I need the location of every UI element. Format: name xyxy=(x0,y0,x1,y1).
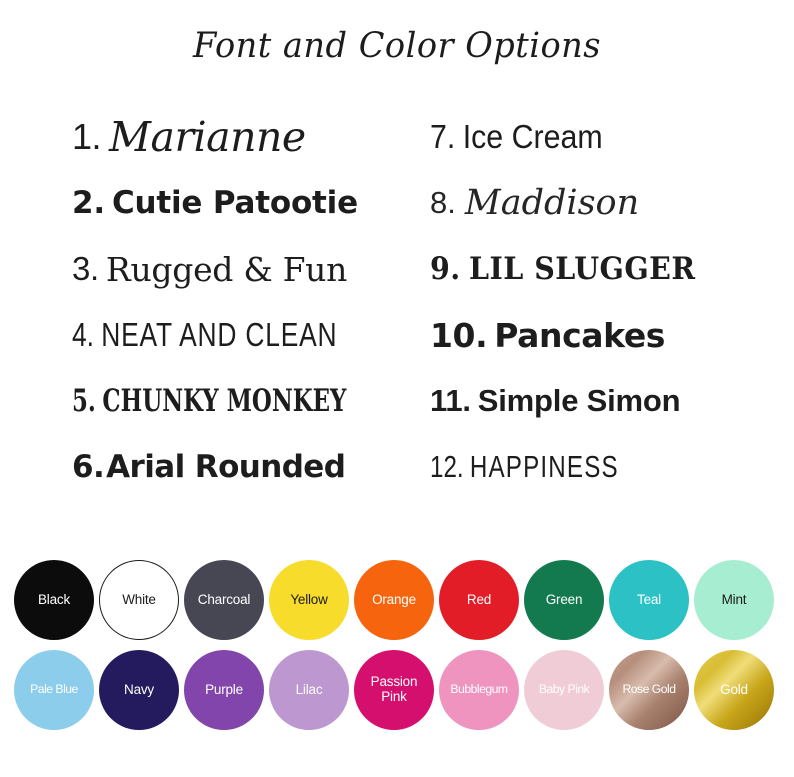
color-swatch-label: Charcoal xyxy=(196,593,252,608)
color-swatch-purple[interactable]: Purple xyxy=(184,650,264,730)
font-option-9[interactable]: 9. LIL SLUGGER xyxy=(430,236,761,302)
color-swatch-label: Passion Pink xyxy=(369,675,420,704)
color-swatch-green[interactable]: Green xyxy=(524,560,604,640)
font-option-12-number: 12. xyxy=(430,449,464,485)
font-option-1-name: Marianne xyxy=(109,113,306,161)
color-swatch-rose-gold[interactable]: Rose Gold xyxy=(609,650,689,730)
font-option-6-number: 6. xyxy=(72,449,104,485)
color-swatch-label: Gold xyxy=(718,683,750,698)
color-swatch-orange[interactable]: Orange xyxy=(354,560,434,640)
font-option-6[interactable]: 6. Arial Rounded xyxy=(72,434,432,500)
font-option-4[interactable]: 4. NEAT AND CLEAN xyxy=(72,302,360,368)
font-option-1[interactable]: 1. Marianne xyxy=(72,104,432,170)
font-options-list: 1. Marianne 2. Cutie Patootie 3. Rugged … xyxy=(0,104,794,524)
color-swatch-label: Red xyxy=(465,593,493,608)
font-option-2-number: 2. xyxy=(72,185,105,221)
font-option-7-name: Ice Cream xyxy=(463,118,603,156)
font-option-5-number: 5. xyxy=(72,383,96,419)
color-swatch-baby-pink[interactable]: Baby Pink xyxy=(524,650,604,730)
font-option-11-name: Simple Simon xyxy=(478,383,681,419)
color-swatch-teal[interactable]: Teal xyxy=(609,560,689,640)
color-swatch-pale-blue[interactable]: Pale Blue xyxy=(14,650,94,730)
font-option-8-name: Maddison xyxy=(465,183,639,223)
font-option-5-name: CHUNKY MONKEY xyxy=(102,383,346,419)
color-swatch-mint[interactable]: Mint xyxy=(694,560,774,640)
color-swatch-charcoal[interactable]: Charcoal xyxy=(184,560,264,640)
font-option-10-name: Pancakes xyxy=(494,316,665,355)
font-option-10-number: 10. xyxy=(430,316,487,355)
font-column-right: 7. Ice Cream 8. Maddison 9. LIL SLUGGER … xyxy=(430,104,790,500)
font-option-11[interactable]: 11. Simple Simon xyxy=(430,368,790,434)
font-option-7[interactable]: 7. Ice Cream xyxy=(430,104,761,170)
color-swatch-label: Rose Gold xyxy=(620,683,677,696)
font-option-3-number: 3. xyxy=(72,250,99,288)
font-option-8-number: 8. xyxy=(430,185,456,221)
font-option-2[interactable]: 2. Cutie Patootie xyxy=(72,170,432,236)
font-option-12[interactable]: 12. HAPPINESS xyxy=(430,434,711,500)
color-swatch-bubblegum[interactable]: Bubblegum xyxy=(439,650,519,730)
color-swatch-white[interactable]: White xyxy=(99,560,179,640)
color-swatch-navy[interactable]: Navy xyxy=(99,650,179,730)
color-swatch-label: Orange xyxy=(370,593,418,608)
color-swatch-label: Lilac xyxy=(294,683,325,698)
color-swatch-lilac[interactable]: Lilac xyxy=(269,650,349,730)
color-swatch-label: White xyxy=(120,593,158,608)
color-swatch-label: Green xyxy=(544,593,585,608)
font-option-1-number: 1. xyxy=(72,116,101,158)
font-column-left: 1. Marianne 2. Cutie Patootie 3. Rugged … xyxy=(72,104,432,500)
font-option-4-name: NEAT AND CLEAN xyxy=(101,316,337,354)
color-swatch-label: Bubblegum xyxy=(448,683,509,696)
font-option-11-number: 11. xyxy=(430,383,471,419)
color-swatch-gold[interactable]: Gold xyxy=(694,650,774,730)
font-option-5[interactable]: 5. CHUNKY MONKEY xyxy=(72,368,367,434)
font-option-3[interactable]: 3. Rugged & Fun xyxy=(72,236,432,302)
color-swatch-yellow[interactable]: Yellow xyxy=(269,560,349,640)
color-swatch-label: Mint xyxy=(720,593,749,608)
font-option-2-name: Cutie Patootie xyxy=(112,185,358,221)
color-swatch-black[interactable]: Black xyxy=(14,560,94,640)
color-swatch-label: Baby Pink xyxy=(537,683,591,696)
color-swatch-label: Black xyxy=(36,593,72,608)
page-title: Font and Color Options xyxy=(16,0,778,72)
font-option-6-name: Arial Rounded xyxy=(106,449,345,485)
font-option-10[interactable]: 10. Pancakes xyxy=(430,302,790,368)
font-option-3-name: Rugged & Fun xyxy=(106,250,347,289)
font-option-12-name: HAPPINESS xyxy=(470,449,619,485)
color-swatch-label: Yellow xyxy=(288,593,329,608)
font-option-8[interactable]: 8. Maddison xyxy=(430,170,790,236)
color-swatch-label: Pale Blue xyxy=(28,683,80,696)
font-option-9-number: 9. xyxy=(430,251,461,287)
color-swatch-red[interactable]: Red xyxy=(439,560,519,640)
color-swatch-label: Navy xyxy=(122,683,156,698)
color-swatch-passion-pink[interactable]: Passion Pink xyxy=(354,650,434,730)
font-option-7-number: 7. xyxy=(430,118,455,156)
color-swatch-label: Teal xyxy=(635,593,663,608)
color-swatch-grid: BlackWhiteCharcoalYellowOrangeRedGreenTe… xyxy=(14,560,780,740)
color-swatch-label: Purple xyxy=(203,683,245,698)
font-option-9-name: LIL SLUGGER xyxy=(469,251,696,287)
font-option-4-number: 4. xyxy=(72,316,94,354)
